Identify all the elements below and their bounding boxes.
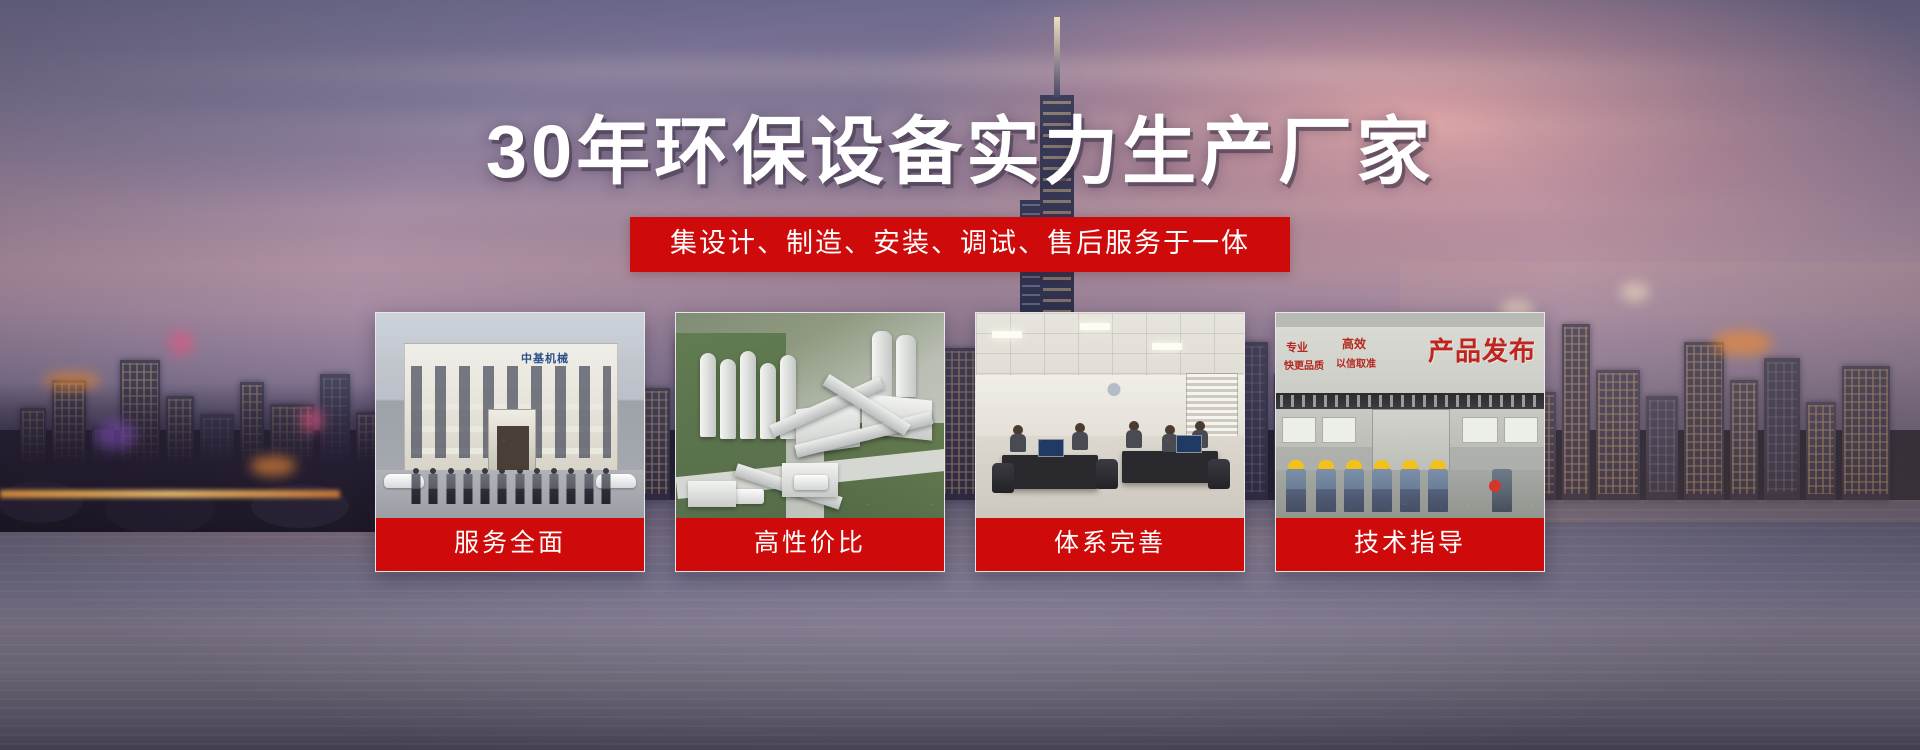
factory-signage: 产品发布 [1428,331,1536,368]
feature-card-list: 中基机械 服务全面 [375,312,1545,572]
card-thumbnail-aerial-plant [676,313,944,518]
banner-subtitle-bar: 集设计、制造、安装、调试、售后服务于一体 [630,217,1290,272]
banner-headline: 30年环保设备实力生产厂家 [486,115,1434,189]
feature-card[interactable]: 中基机械 服务全面 [375,312,645,572]
factory-slogan: 以信取准 [1336,355,1376,370]
building-signage: 中基机械 [497,350,593,365]
card-thumbnail-factory: 产品发布 专业 高效 快更品质 以信取准 [1276,313,1544,518]
staff-lineup [410,468,612,508]
feature-card[interactable]: 高性价比 [675,312,945,572]
card-caption: 服务全面 [376,518,644,571]
hero-banner: 30年环保设备实力生产厂家 集设计、制造、安装、调试、售后服务于一体 中基机械 [0,0,1920,750]
wall-logo [1088,379,1140,409]
card-caption: 高性价比 [676,518,944,571]
card-caption: 体系完善 [976,518,1244,571]
feature-card[interactable]: 体系完善 [975,312,1245,572]
banner-content: 30年环保设备实力生产厂家 集设计、制造、安装、调试、售后服务于一体 中基机械 [0,0,1920,750]
card-thumbnail-office-interior [976,313,1244,518]
card-caption: 技术指导 [1276,518,1544,571]
card-thumbnail-office-building: 中基机械 [376,313,644,518]
factory-slogan: 高效 [1342,335,1366,352]
feature-card[interactable]: 产品发布 专业 高效 快更品质 以信取准 [1275,312,1545,572]
factory-slogan: 专业 [1286,339,1308,355]
factory-slogan: 快更品质 [1284,357,1324,372]
